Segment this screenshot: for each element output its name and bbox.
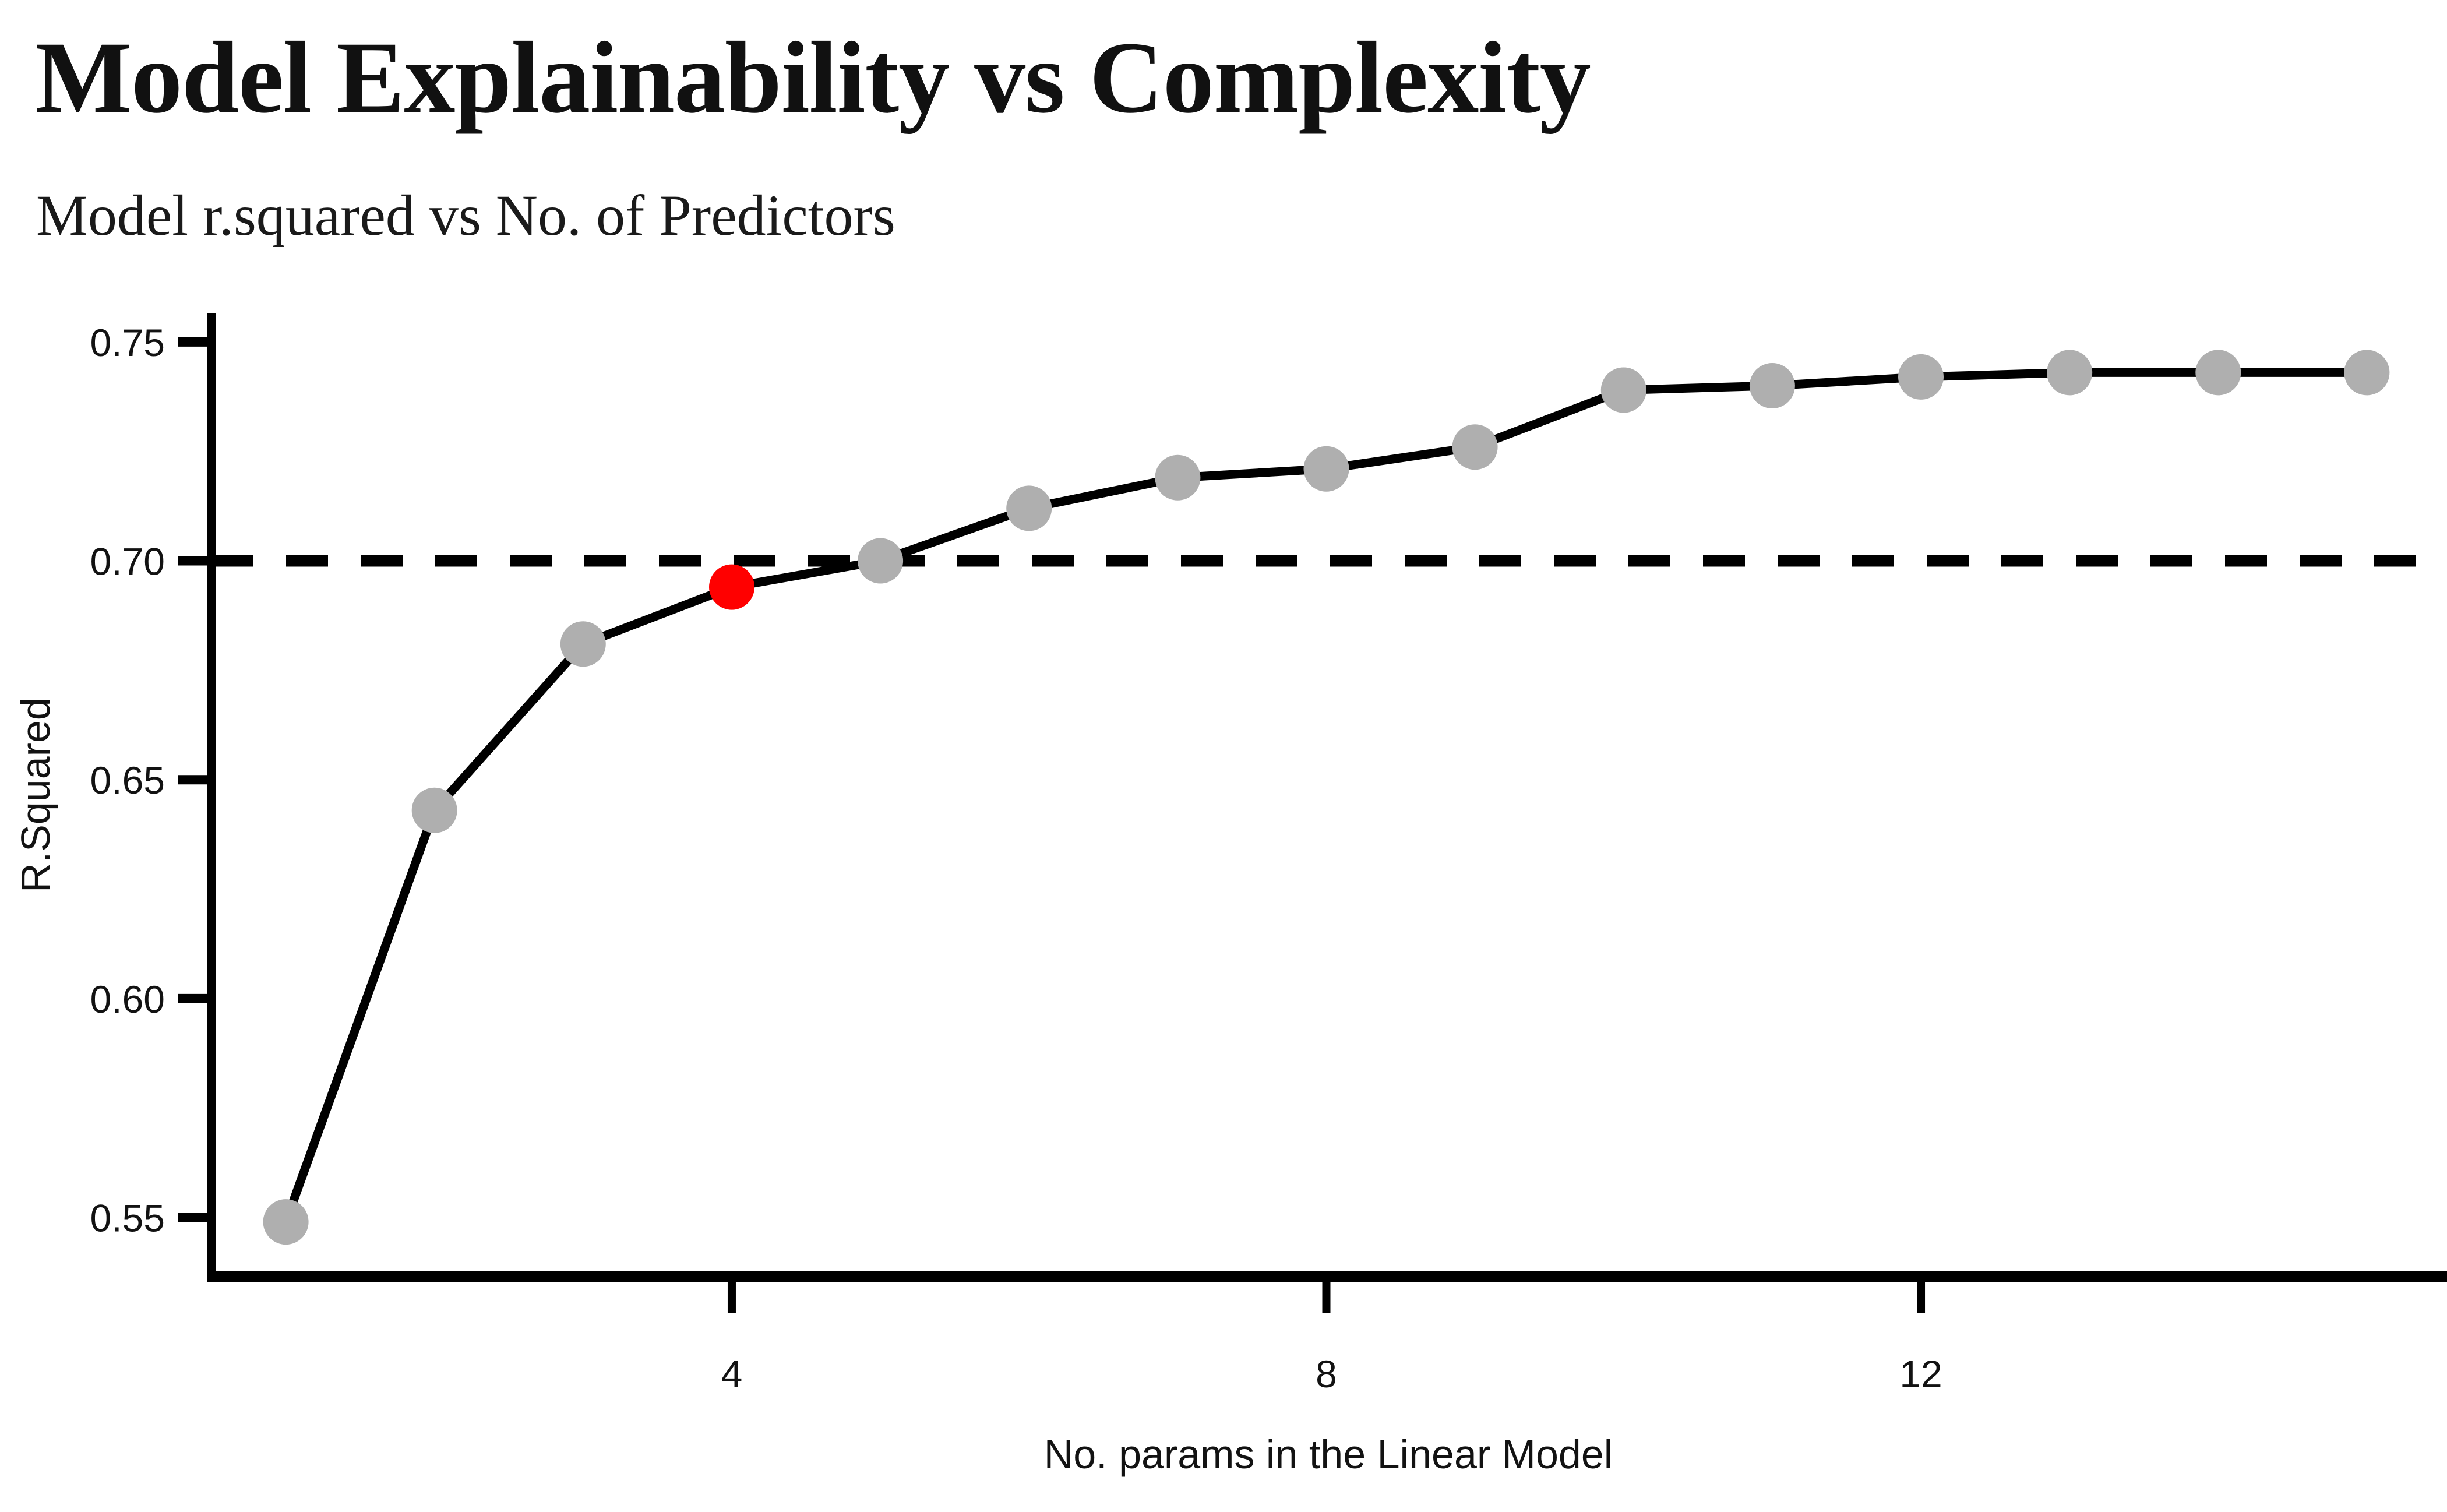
y-tick-label: 0.55 (90, 1197, 165, 1240)
y-tick-label: 0.75 (90, 321, 165, 364)
data-point[interactable] (1155, 455, 1200, 501)
data-point[interactable] (1898, 354, 1944, 400)
series-points (263, 350, 2390, 1245)
data-point[interactable] (1006, 485, 1052, 531)
x-tick-label: 8 (1316, 1352, 1337, 1395)
data-point[interactable] (2344, 350, 2389, 395)
data-point[interactable] (858, 538, 903, 584)
data-point[interactable] (2195, 350, 2241, 395)
data-point[interactable] (263, 1199, 309, 1245)
data-point[interactable] (1304, 446, 1349, 492)
data-point[interactable] (1750, 363, 1795, 408)
data-point[interactable] (2047, 350, 2092, 395)
data-point[interactable] (1601, 368, 1646, 413)
series-line (286, 372, 2367, 1222)
highlighted-data-point[interactable] (709, 565, 754, 610)
y-axis-title: R.Squared (13, 697, 58, 893)
y-tick-label: 0.65 (90, 759, 165, 802)
x-axis-ticks: 4812 (721, 1277, 1942, 1395)
y-tick-label: 0.60 (90, 978, 165, 1021)
y-tick-label: 0.70 (90, 540, 165, 583)
plot-area: 0.550.600.650.700.75 4812 R.Squared No. … (0, 0, 2447, 1512)
series-polyline (286, 372, 2367, 1222)
data-point[interactable] (412, 788, 457, 833)
data-point[interactable] (1452, 424, 1498, 470)
x-tick-label: 12 (1899, 1352, 1942, 1395)
data-point[interactable] (560, 621, 606, 667)
x-tick-label: 4 (721, 1352, 743, 1395)
x-axis-title: No. params in the Linear Model (1044, 1432, 1613, 1477)
chart-canvas: Model Explainability vs Complexity Model… (0, 0, 2447, 1512)
y-axis-ticks: 0.550.600.650.700.75 (90, 321, 211, 1240)
